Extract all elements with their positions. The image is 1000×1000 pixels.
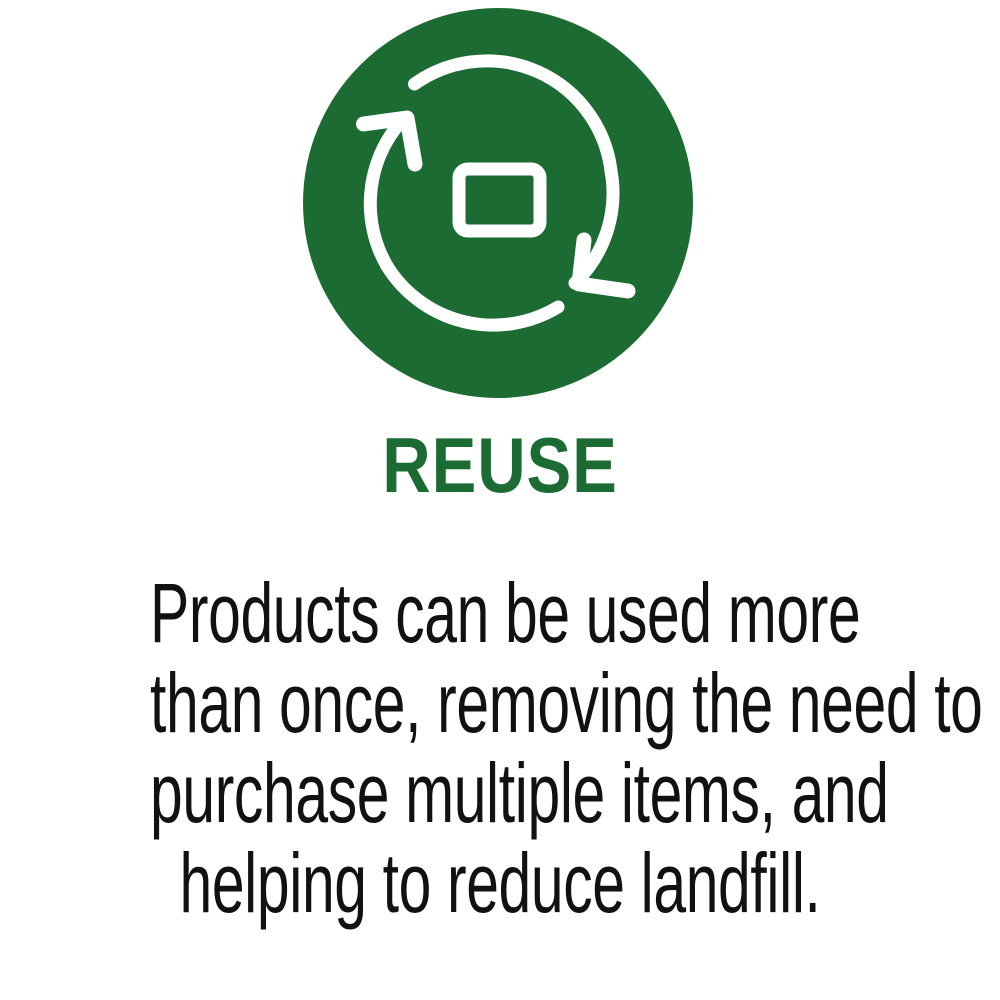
reuse-info-card: REUSE Products can be used more than onc…: [0, 0, 1000, 1000]
description-line: Products can be used more: [150, 568, 850, 658]
reuse-icon-badge: [303, 8, 693, 398]
reuse-cycle-icon: [303, 8, 693, 398]
description-line: than once, removing the need to: [150, 658, 850, 748]
description-line: helping to reduce landfill.: [150, 838, 850, 928]
description-line: purchase multiple items, and: [150, 748, 850, 838]
description-text: Products can be used more than once, rem…: [0, 568, 1000, 928]
page-title: REUSE: [70, 424, 930, 506]
